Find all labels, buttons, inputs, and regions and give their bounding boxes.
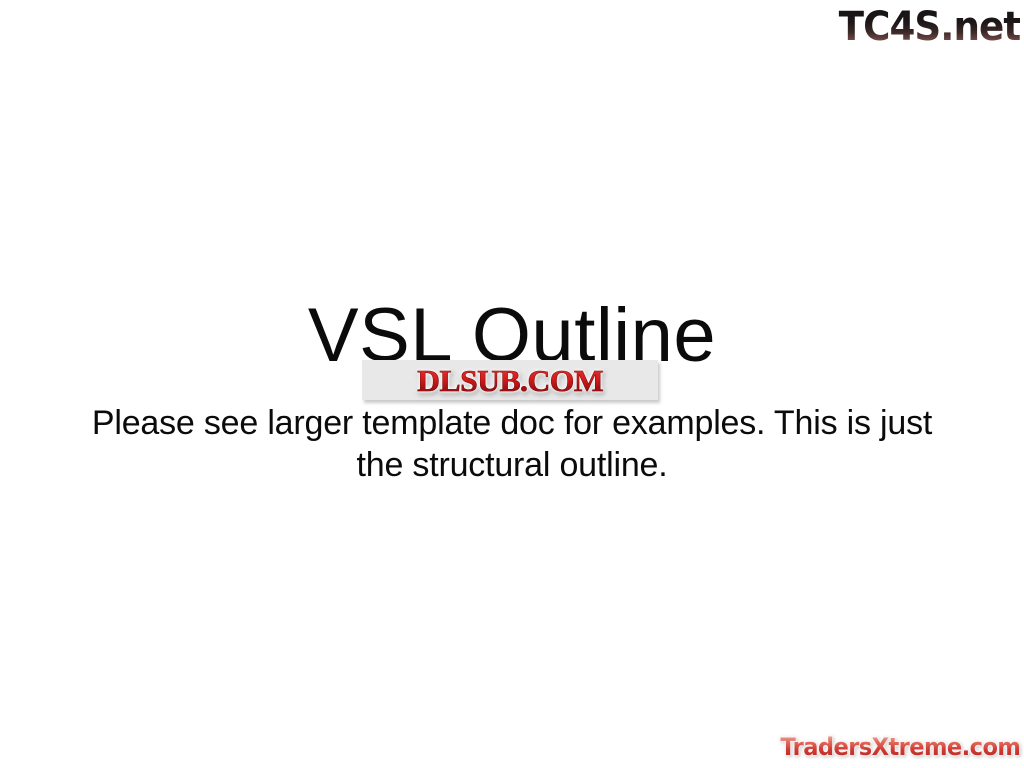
presentation-slide: TC4S.net VSL Outline DLSUB.COM Please se… bbox=[0, 0, 1024, 768]
subtitle-block: Please see larger template doc for examp… bbox=[72, 402, 952, 486]
dlsub-watermark-logo: DLSUB.COM bbox=[362, 360, 658, 400]
dlsub-watermark-label: DLSUB.COM bbox=[417, 365, 603, 396]
tc4s-watermark-label: TC4S.net bbox=[838, 7, 1020, 47]
slide-subtitle: Please see larger template doc for examp… bbox=[72, 402, 952, 486]
tc4s-watermark-logo: TC4S.net bbox=[824, 2, 1020, 52]
tradersxtreme-watermark-logo: TradersXtreme.com bbox=[768, 730, 1020, 764]
tradersxtreme-watermark-label: TradersXtreme.com bbox=[780, 735, 1020, 759]
